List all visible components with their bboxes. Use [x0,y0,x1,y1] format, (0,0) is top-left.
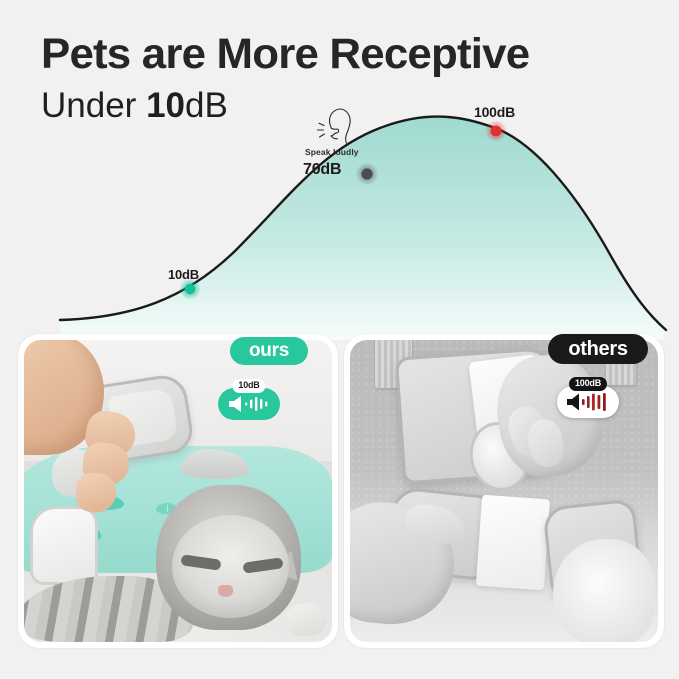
poster-canvas: Pets are More Receptive Under 10dB [0,0,679,679]
cat-nose [218,585,233,597]
white-pad [476,495,550,590]
chart-label-10db: 10dB [168,267,199,282]
speak-loudly-caption: Speak loudly [305,147,359,157]
curve-area-fill [60,117,664,340]
panel-ours[interactable] [18,334,338,648]
point-halo-10db [179,278,201,300]
speaker-waves-icon [564,392,612,412]
subtitle-unit: dB [185,86,228,125]
badge-ours: ours [230,337,308,365]
sound-pill: 10dB [218,388,280,420]
data-point-10db[interactable] [185,284,195,294]
sound-badge-ours: 10dB [218,388,280,420]
suit-fleece-pad [30,506,98,585]
cat-paw [286,603,326,636]
cat-fur [553,539,655,642]
badge-others: others [548,334,648,364]
sound-level-label-ours: 10dB [232,379,265,393]
page-title: Pets are More Receptive [41,29,653,79]
sound-pill: 100dB [557,386,619,418]
speaker-waves-icon [226,394,272,414]
data-point-100db[interactable] [491,126,502,137]
photo-ours [24,340,332,642]
subtitle-number: 10 [146,86,185,125]
sound-badge-others: 100dB [557,386,619,418]
panel-others[interactable] [344,334,664,648]
sound-level-label-others: 100dB [569,377,607,391]
data-point-70db[interactable] [361,168,372,179]
headline-block: Pets are More Receptive Under 10dB [41,29,641,127]
point-halo-70db [356,163,379,186]
page-subtitle: Under 10dB [41,85,641,127]
chart-label-70db: 70dB [303,161,341,179]
subtitle-prefix: Under [41,86,146,125]
curve-line [60,117,666,330]
